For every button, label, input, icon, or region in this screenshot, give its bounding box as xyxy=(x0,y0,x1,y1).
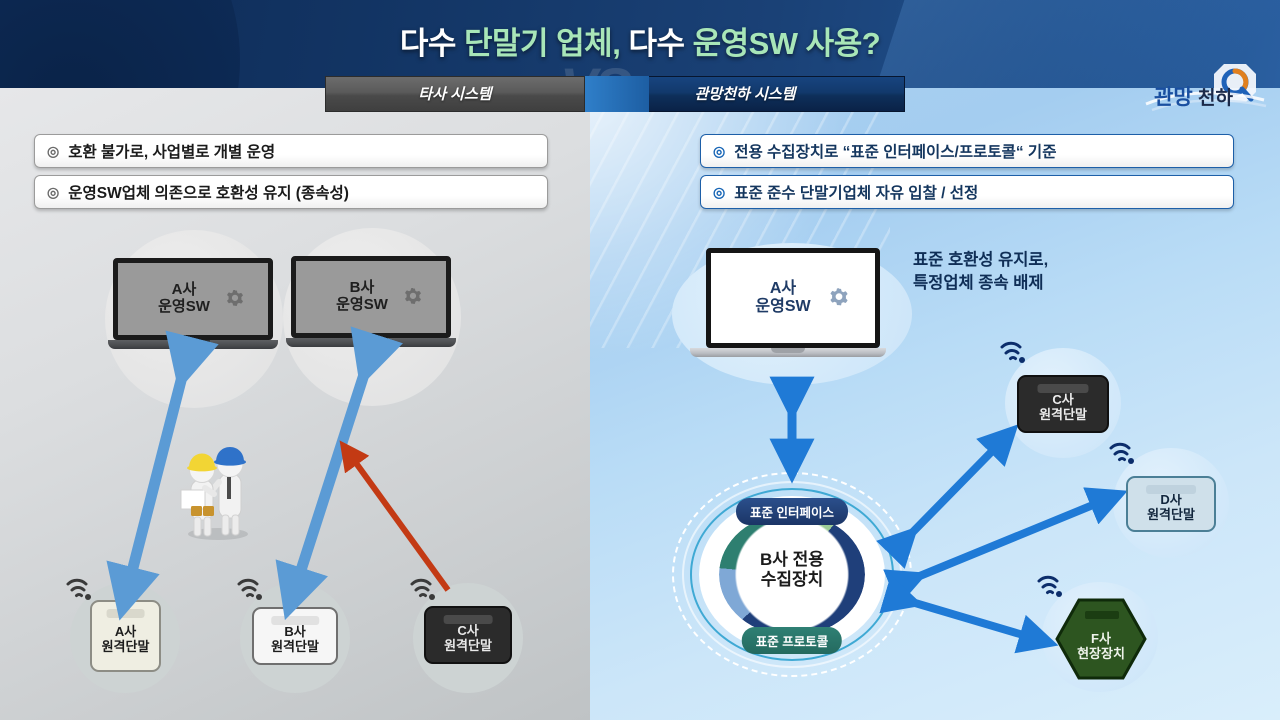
wifi-icon xyxy=(998,341,1028,372)
right-device-c-line2: 원격단말 xyxy=(1039,408,1087,423)
tab-other-system[interactable]: 타사 시스템 xyxy=(325,76,585,112)
left-bullet-list: ◎ 호환 불가로, 사업별로 개별 운영 ◎ 운영SW업체 의존으로 호환성 유… xyxy=(34,134,548,216)
bullet-marker-icon: ◎ xyxy=(713,184,725,201)
left-device-c-line2: 원격단말 xyxy=(444,639,492,654)
brand-logo[interactable]: 관망 천하 xyxy=(1138,60,1270,116)
right-device-d-line1: D사 xyxy=(1147,493,1195,508)
slide-header: VS 다수 단말기 업체, 다수 운영SW 사용? xyxy=(0,0,1280,88)
left-device-b-line1: B사 xyxy=(271,625,319,640)
title-part-4: 운영SW 사용? xyxy=(693,26,881,61)
wifi-icon xyxy=(1035,575,1065,606)
field-workers-illustration xyxy=(175,430,261,540)
left-device-a-line2: 원격단말 xyxy=(102,640,150,655)
left-laptop-a: A사 운영SW xyxy=(113,258,273,349)
right-laptop-line2: 운영SW xyxy=(755,298,810,316)
right-device-c-line1: C사 xyxy=(1039,393,1087,408)
gear-icon xyxy=(825,285,853,318)
tab-gwanmang-system[interactable]: 관망천하 시스템 xyxy=(585,76,905,112)
right-device-f-line1: F사 xyxy=(1055,632,1147,647)
right-device-c: C사 원격단말 xyxy=(1017,375,1109,433)
right-note-text: 표준 호환성 유지로, 특정업체 종속 배제 xyxy=(913,249,1048,295)
bullet-marker-icon: ◎ xyxy=(713,143,725,160)
right-device-f: F사 현장장치 xyxy=(1055,598,1147,680)
wifi-icon xyxy=(64,578,94,609)
title-part-2: 단말기 업체, xyxy=(464,26,628,61)
left-device-a-line1: A사 xyxy=(102,625,150,640)
right-bullet-text-2: 표준 준수 단말기업체 자유 입찰 / 선정 xyxy=(734,181,978,203)
left-bullet-text-1: 호환 불가로, 사업별로 개별 운영 xyxy=(68,140,275,162)
hub-pill-interface: 표준 인터페이스 xyxy=(736,498,848,525)
gear-icon xyxy=(222,287,248,318)
logo-text-blue: 관망 xyxy=(1154,86,1193,109)
gear-icon xyxy=(400,285,426,316)
logo-text-dark: 천하 xyxy=(1198,87,1233,109)
hub-center-line1: B사 전용 xyxy=(672,550,912,570)
hub-pill-protocol: 표준 프로토콜 xyxy=(742,627,842,654)
wifi-icon xyxy=(235,578,265,609)
right-bullet-item-2: ◎ 표준 준수 단말기업체 자유 입찰 / 선정 xyxy=(700,175,1234,209)
left-bullet-text-2: 운영SW업체 의존으로 호환성 유지 (종속성) xyxy=(68,181,349,203)
wifi-icon xyxy=(408,578,438,609)
title-part-3: 다수 xyxy=(628,26,692,61)
hub-center-line2: 수집장치 xyxy=(672,570,912,590)
title-part-1: 다수 xyxy=(400,26,464,61)
right-bullet-list: ◎ 전용 수집장치로 “표준 인터페이스/프로토콜“ 기준 ◎ 표준 준수 단말… xyxy=(700,134,1234,216)
right-laptop-line1: A사 xyxy=(755,280,810,298)
left-device-c-line1: C사 xyxy=(444,624,492,639)
right-laptop: A사 운영SW xyxy=(706,248,880,357)
slide-root: VS 다수 단말기 업체, 다수 운영SW 사용? 타사 시스템 관망천하 시스… xyxy=(0,0,1280,720)
bullet-marker-icon: ◎ xyxy=(47,184,59,201)
left-laptop-a-line1: A사 xyxy=(158,282,210,299)
right-device-f-line2: 현장장치 xyxy=(1055,647,1147,662)
bullet-marker-icon: ◎ xyxy=(47,143,59,160)
right-device-d-line2: 원격단말 xyxy=(1147,508,1195,523)
left-device-a: A사 원격단말 xyxy=(90,600,161,672)
page-title: 다수 단말기 업체, 다수 운영SW 사용? xyxy=(0,18,1280,63)
right-note-line1: 표준 호환성 유지로, xyxy=(913,249,1048,272)
left-device-c: C사 원격단말 xyxy=(424,606,512,664)
right-bullet-item-1: ◎ 전용 수집장치로 “표준 인터페이스/프로토콜“ 기준 xyxy=(700,134,1234,168)
standard-hub: 표준 인터페이스 B사 전용 수집장치 표준 프로토콜 xyxy=(672,472,912,677)
right-bullet-text-1: 전용 수집장치로 “표준 인터페이스/프로토콜“ 기준 xyxy=(734,140,1056,162)
wifi-icon xyxy=(1107,442,1137,473)
comparison-tabs: 타사 시스템 관망천하 시스템 xyxy=(325,76,905,112)
left-device-b-line2: 원격단말 xyxy=(271,640,319,655)
right-device-d: D사 원격단말 xyxy=(1126,476,1216,532)
left-laptop-a-line2: 운영SW xyxy=(158,299,210,316)
right-note-line2: 특정업체 종속 배제 xyxy=(913,272,1048,295)
left-bullet-item-2: ◎ 운영SW업체 의존으로 호환성 유지 (종속성) xyxy=(34,175,548,209)
left-device-b: B사 원격단말 xyxy=(252,607,338,665)
left-laptop-b-line2: 운영SW xyxy=(336,297,388,314)
left-laptop-b: B사 운영SW xyxy=(291,256,451,347)
left-bullet-item-1: ◎ 호환 불가로, 사업별로 개별 운영 xyxy=(34,134,548,168)
left-laptop-b-line1: B사 xyxy=(336,280,388,297)
hub-center-label: B사 전용 수집장치 xyxy=(672,550,912,589)
